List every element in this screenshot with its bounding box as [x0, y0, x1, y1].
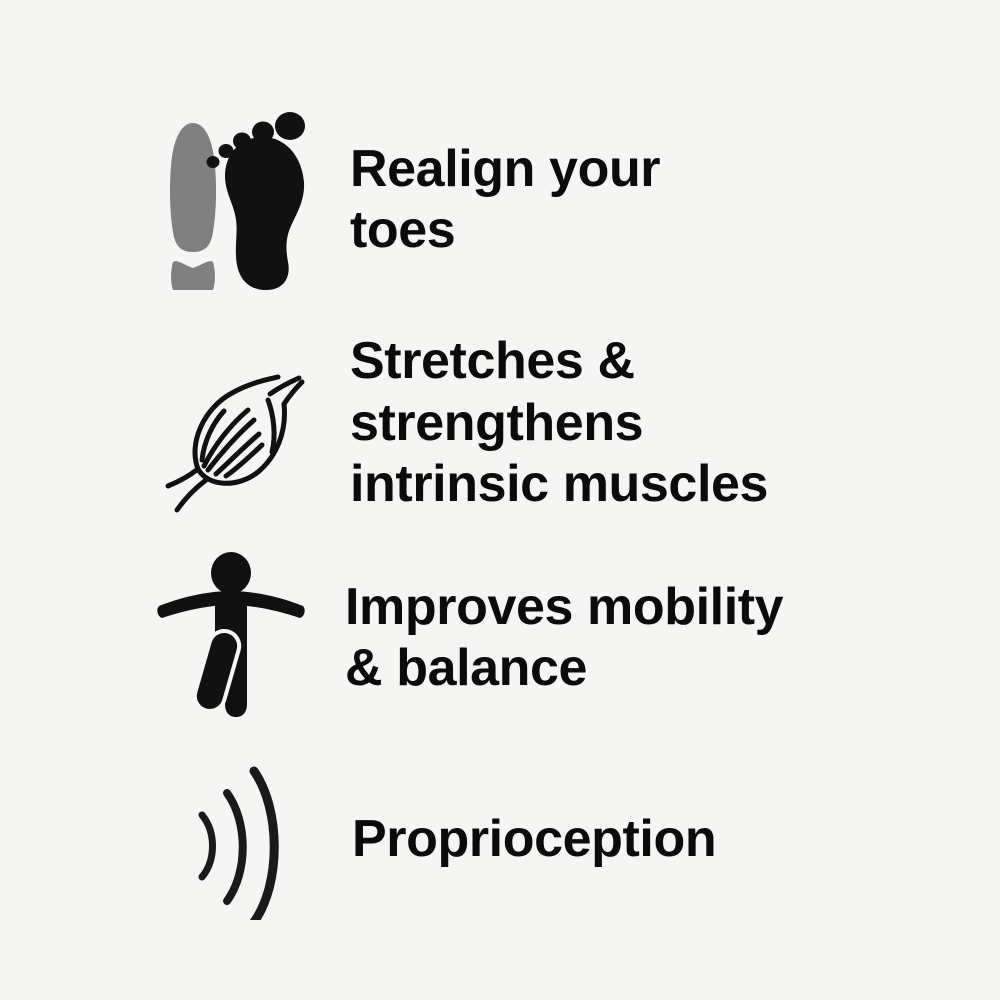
benefit-label-realign-toes: Realign your toes — [350, 139, 660, 262]
benefits-list: Realign your toes — [0, 0, 1000, 1000]
benefit-label-proprioception: Proprioception — [352, 809, 716, 870]
benefit-item-realign-toes: Realign your toes — [160, 110, 980, 290]
benefit-label-mobility-balance: Improves mobility & balance — [345, 577, 783, 700]
benefit-item-proprioception: Proprioception — [180, 760, 980, 920]
footprints-icon — [160, 110, 310, 290]
benefit-item-stretches-strengthens: Stretches & strengthens intrinsic muscle… — [160, 316, 1000, 531]
balance-figure-icon — [155, 552, 307, 724]
benefit-item-mobility-balance: Improves mobility & balance — [155, 552, 985, 724]
muscle-fiber-icon — [160, 360, 310, 515]
benefit-label-stretches-strengthens: Stretches & strengthens intrinsic muscle… — [350, 331, 768, 515]
signal-waves-icon — [180, 760, 300, 920]
